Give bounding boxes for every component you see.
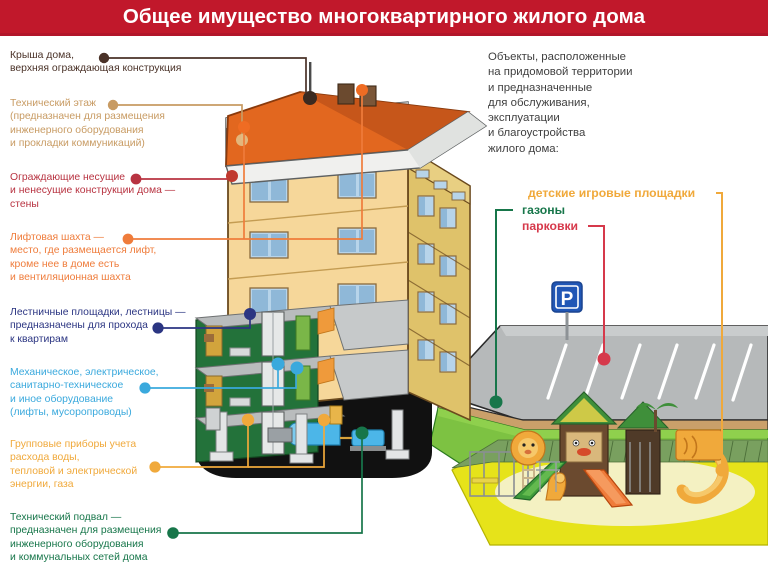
label-stairs: Лестничные площадки, лестницы — предназн… — [10, 306, 225, 346]
banner-underline — [0, 33, 768, 36]
title-banner: Общее имущество многоквартирного жилого … — [0, 0, 768, 36]
svg-text:P: P — [561, 289, 574, 310]
swing-seat — [472, 478, 498, 483]
building-cutaway-interior — [196, 300, 409, 463]
label-lawns: газоны — [522, 203, 565, 217]
right-intro-text: Объекты, расположенные на придомовой тер… — [488, 50, 738, 157]
title-banner-inner: Общее имущество многоквартирного жилого … — [0, 0, 768, 33]
label-parkings: парковки — [522, 219, 578, 233]
label-elevator-shaft: Лифтовая шахта — место, где размещается … — [10, 231, 215, 285]
label-equipment: Механическое, электрическое, санитарно-т… — [10, 366, 215, 420]
label-technical-basement: Технический подвал — предназначен для ра… — [10, 511, 225, 565]
roof — [226, 62, 486, 184]
infographic-root: P — [0, 0, 768, 578]
label-technical-floor: Технический этаж (предназначен для разме… — [10, 97, 215, 151]
parking-lot — [438, 326, 768, 420]
label-playgrounds: детские игровые площадки — [528, 186, 695, 200]
label-roof: Крыша дома, верхняя ограждающая конструк… — [10, 49, 210, 76]
page-title: Общее имущество многоквартирного жилого … — [123, 5, 645, 29]
label-meters: Групповые приборы учета расхода воды, те… — [10, 438, 210, 492]
label-walls: Ограждающие несущие и ненесущие конструк… — [10, 171, 225, 211]
building-side-wall — [408, 148, 470, 420]
lion-figure — [511, 431, 545, 465]
